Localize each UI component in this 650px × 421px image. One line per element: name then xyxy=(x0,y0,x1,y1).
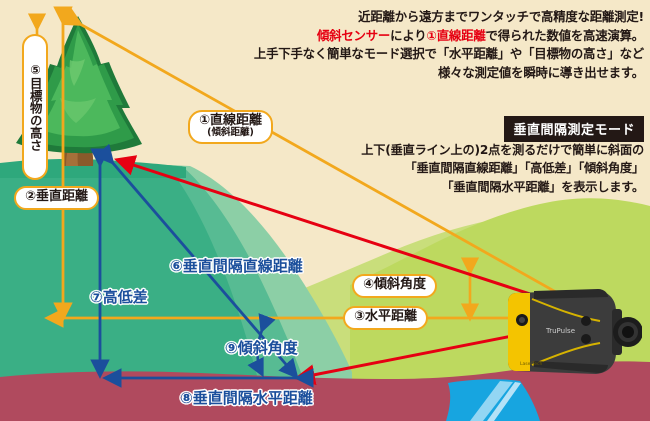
mode-button xyxy=(581,316,591,326)
mode-line-1: 上下(垂直ライン上の)2点を測るだけで簡単に斜面の xyxy=(280,141,644,159)
mode-title-badge: 垂直間隔測定モード xyxy=(504,116,644,142)
fire-button xyxy=(581,334,591,344)
callout-vi-incline-angle: ⑨傾斜角度 xyxy=(225,337,298,358)
callout-linear-distance-sub: (傾斜距離) xyxy=(199,128,262,139)
intro-line-4: 様々な測定値を瞬時に導き出せます。 xyxy=(228,64,644,83)
intro-copy: 近距離から遠方までワンタッチで高精度な距離測定! 傾斜センサーにより①直線距離で… xyxy=(228,8,644,82)
mode-line-2: 「垂直間隔直線距離」「高低差」「傾斜角度」 xyxy=(280,159,644,177)
intro-line-2: 傾斜センサーにより①直線距離で得られた数値を高速演算。 xyxy=(228,27,644,46)
device-brand: TruPulse xyxy=(545,327,575,335)
callout-horizontal-distance: ③水平距離 xyxy=(343,306,428,330)
callout-vi-horizontal-distance: ⑧垂直間隔水平距離 xyxy=(180,387,313,408)
intro-line-3: 上手下手なく簡単なモード選択で「水平距離」や「目標物の高さ」など xyxy=(228,45,644,64)
intro-highlight-sensor: 傾斜センサー xyxy=(317,28,390,43)
intro-line-1: 近距離から遠方までワンタッチで高精度な距離測定! xyxy=(228,8,644,27)
laser-rangefinder-device[interactable]: TruPulse LaserTech xyxy=(500,287,642,379)
callout-target-height: ⑤目標物の高さ xyxy=(22,34,48,180)
mode-description: 上下(垂直ライン上の)2点を測るだけで簡単に斜面の 「垂直間隔直線距離」「高低差… xyxy=(280,141,644,196)
callout-linear-distance: ①直線距離 (傾斜距離) xyxy=(188,110,273,144)
intro-line2-mid: により xyxy=(390,28,426,43)
intro-highlight-linear: ①直線距離 xyxy=(426,28,485,43)
diagram-canvas: TruPulse LaserTech 近距離から遠方までワンタッチで高精度な距離… xyxy=(0,0,650,421)
eyepiece xyxy=(612,309,642,355)
callout-height-difference: ⑦高低差 xyxy=(90,286,148,307)
callout-linear-distance-main: ①直線距離 xyxy=(199,113,262,128)
mode-line-3: 「垂直間隔水平距離」を表示します。 xyxy=(280,178,644,196)
intro-line2-end: で得られた数値を高速演算。 xyxy=(486,28,644,43)
callout-incline-angle: ④傾斜角度 xyxy=(352,274,437,298)
callout-vertical-distance: ②垂直距離 xyxy=(14,186,99,210)
callout-vi-slope-distance: ⑥垂直間隔直線距離 xyxy=(170,255,303,276)
device-subbrand: LaserTech xyxy=(520,361,542,367)
